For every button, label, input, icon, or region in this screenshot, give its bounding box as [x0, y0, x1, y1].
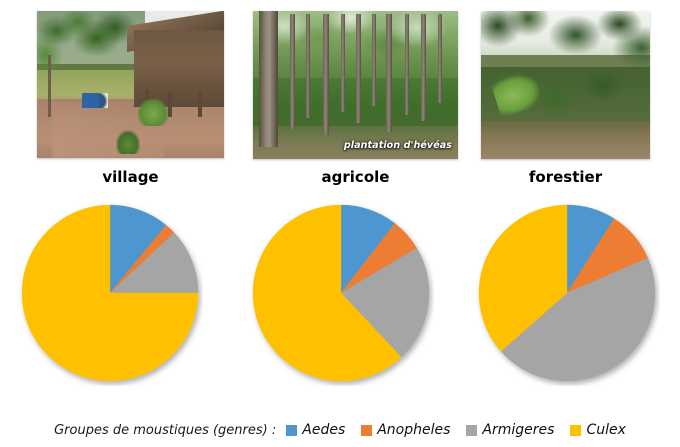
legend-swatch-icon	[466, 425, 477, 436]
legend-label-armigeres: Armigeres	[482, 422, 554, 438]
site-label-forestier: forestier	[481, 167, 650, 187]
legend-swatch-icon	[361, 425, 372, 436]
pie-chart-village: Aedes: 11%Anopheles: 2%Armigeres: 12%Cul…	[17, 200, 203, 386]
forest-floor	[481, 121, 650, 159]
foreground-trunk	[259, 11, 277, 147]
pie-svg: Aedes: 11%Anopheles: 2%Armigeres: 12%Cul…	[17, 200, 203, 386]
rubber-tree-trunks	[253, 11, 458, 159]
photo-village	[37, 11, 224, 158]
pie-charts-row: Aedes: 11%Anopheles: 2%Armigeres: 12%Cul…	[0, 200, 680, 390]
photo-row: plantation d'hévéas	[0, 0, 680, 162]
photo-agricole: plantation d'hévéas	[253, 11, 458, 159]
legend-label-culex: Culex	[586, 422, 625, 438]
pie-slices: Aedes: 11%Anopheles: 2%Armigeres: 12%Cul…	[22, 205, 198, 381]
photo-forestier	[481, 11, 650, 159]
legend-title: Groupes de moustiques (genres) :	[54, 423, 276, 438]
legend-item-culex: Culex	[570, 422, 625, 438]
site-labels-row: village agricole forestier	[0, 167, 680, 193]
pie-slices: Aedes: 10.5%Anopheles: 6%Armigeres: 21.5…	[253, 205, 429, 381]
photo-village-scene	[37, 11, 224, 158]
legend-item-aedes: Aedes	[286, 422, 345, 438]
palm-shrub	[138, 99, 168, 125]
photo-caption-plantation: plantation d'hévéas	[344, 140, 452, 151]
house-post	[168, 92, 172, 117]
pie-slices: Aedes: 9%Anopheles: 9.5%Armigeres: 45%Cu…	[479, 205, 655, 381]
legend-item-anopheles: Anopheles	[361, 422, 450, 438]
legend-label-aedes: Aedes	[302, 422, 345, 438]
photo-agricole-scene: plantation d'hévéas	[253, 11, 458, 159]
legend-swatch-icon	[570, 425, 581, 436]
legend-item-armigeres: Armigeres	[466, 422, 554, 438]
house-post	[198, 93, 202, 117]
site-label-agricole: agricole	[253, 167, 458, 187]
foreground-shrub	[116, 130, 140, 154]
pie-svg: Aedes: 10.5%Anopheles: 6%Armigeres: 21.5…	[248, 200, 434, 386]
pie-svg: Aedes: 9%Anopheles: 9.5%Armigeres: 45%Cu…	[474, 200, 660, 386]
tree-trunk	[48, 55, 51, 117]
site-label-village: village	[37, 167, 224, 187]
legend: Groupes de moustiques (genres) : Aedes A…	[0, 415, 680, 445]
pie-chart-forestier: Aedes: 9%Anopheles: 9.5%Armigeres: 45%Cu…	[474, 200, 660, 386]
pie-chart-agricole: Aedes: 10.5%Anopheles: 6%Armigeres: 21.5…	[248, 200, 434, 386]
legend-label-anopheles: Anopheles	[377, 422, 450, 438]
photo-forestier-scene	[481, 11, 650, 159]
people-group	[82, 93, 108, 108]
legend-swatch-icon	[286, 425, 297, 436]
